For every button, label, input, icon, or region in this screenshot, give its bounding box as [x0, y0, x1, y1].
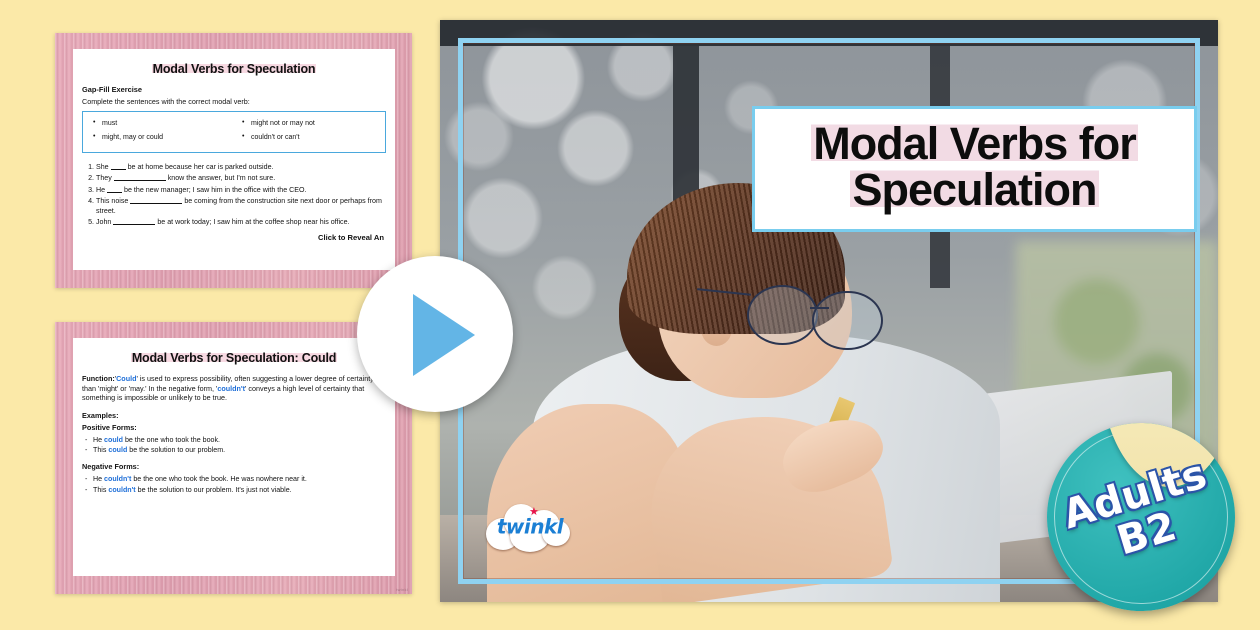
question-before: He	[96, 186, 105, 194]
answer-blank	[113, 224, 155, 225]
answer-blank	[114, 180, 166, 181]
gap-fill-question: She be at home because her car is parked…	[96, 162, 386, 172]
example-after: be the one who took the book. He was now…	[131, 475, 306, 483]
answer-blank	[111, 169, 126, 170]
twinkl-logo: ★ twinkl	[484, 500, 576, 554]
video-title-line-1: Modal Verbs for	[769, 121, 1180, 167]
example-before: He	[93, 436, 104, 444]
word-bank-item: couldn't or can't	[242, 134, 383, 142]
question-after: be at work today; I saw him at the coffe…	[157, 218, 349, 226]
badge-text: Adults B2	[1047, 448, 1235, 581]
example-before: This	[93, 486, 108, 494]
twinkl-watermark: twinkl	[396, 587, 408, 592]
slide-1-title-text: Modal Verbs for Speculation	[152, 62, 317, 76]
gap-fill-question: This noise be coming from the constructi…	[96, 196, 386, 216]
slide-thumbnail-1[interactable]: Modal Verbs for Speculation Gap-Fill Exe…	[55, 33, 412, 288]
example-keyword: could	[104, 436, 123, 444]
question-after: be coming from the construction site nex…	[96, 197, 382, 215]
screenshot-canvas: Modal Verbs for Speculation Gap-Fill Exe…	[0, 0, 1260, 630]
function-keyword-could: Could	[116, 374, 136, 383]
word-bank-column-left: must might, may or could	[85, 117, 234, 147]
answer-blank	[130, 203, 182, 204]
slide-2-title-text: Modal Verbs for Speculation: Could	[131, 351, 337, 365]
positive-examples-list: He could be the one who took the book. T…	[82, 435, 386, 456]
negative-forms-label: Negative Forms:	[82, 462, 386, 471]
example-after: be the one who took the book.	[123, 436, 220, 444]
example-keyword: couldn't	[104, 475, 131, 483]
slide-2-body: Function:'Could' is used to express poss…	[73, 374, 395, 495]
gap-fill-question: They know the answer, but I'm not sure.	[96, 173, 386, 183]
examples-label: Examples:	[82, 411, 386, 420]
question-before: This noise	[96, 197, 128, 205]
example-after: be the solution to our problem.	[127, 446, 225, 454]
function-keyword-couldnt: couldn't	[217, 384, 245, 393]
word-bank-item: must	[93, 120, 234, 128]
example-keyword: couldn't	[108, 486, 135, 494]
negative-examples-list: He couldn't be the one who took the book…	[82, 474, 386, 495]
slide-1-body: Gap-Fill Exercise Complete the sentences…	[73, 85, 395, 242]
word-bank-column-right: might not or may not couldn't or can't	[234, 117, 383, 147]
play-triangle-icon	[413, 294, 475, 376]
example-keyword: could	[108, 446, 127, 454]
question-after: know the answer, but I'm not sure.	[168, 174, 275, 182]
slide-2-title: Modal Verbs for Speculation: Could	[79, 351, 389, 365]
question-before: She	[96, 163, 109, 171]
word-bank-box: must might, may or could might not or ma…	[82, 111, 386, 153]
example-before: This	[93, 446, 108, 454]
video-title-line-2: Speculation	[769, 167, 1180, 213]
question-before: They	[96, 174, 112, 182]
function-label: Function:	[82, 374, 115, 383]
function-paragraph: Function:'Could' is used to express poss…	[82, 374, 386, 403]
video-title-line-1-text: Modal Verbs for	[811, 118, 1138, 169]
question-after: be the new manager; I saw him in the off…	[124, 186, 306, 194]
twinkl-wordmark: twinkl	[484, 515, 576, 539]
slide-thumbnail-2[interactable]: Modal Verbs for Speculation: Could Funct…	[55, 322, 412, 594]
gap-fill-question: John be at work today; I saw him at the …	[96, 217, 386, 227]
example-before: He	[93, 475, 104, 483]
slide-1-page: Modal Verbs for Speculation Gap-Fill Exe…	[73, 49, 395, 270]
slide-1-instruction: Complete the sentences with the correct …	[82, 97, 386, 106]
slide-2-page: Modal Verbs for Speculation: Could Funct…	[73, 338, 395, 576]
example-after: be the solution to our problem. It's jus…	[136, 486, 292, 494]
click-to-reveal-button[interactable]: Click to Reveal An	[82, 233, 386, 242]
example-item: This could be the solution to our proble…	[93, 445, 386, 456]
answer-blank	[107, 192, 122, 193]
example-item: He could be the one who took the book.	[93, 435, 386, 446]
video-title-line-2-text: Speculation	[850, 164, 1098, 215]
example-item: He couldn't be the one who took the book…	[93, 474, 386, 485]
gap-fill-question: He be the new manager; I saw him in the …	[96, 185, 386, 195]
word-bank-item: might not or may not	[242, 120, 383, 128]
gap-fill-question-list: She be at home because her car is parked…	[82, 162, 386, 226]
video-title-card: Modal Verbs for Speculation	[752, 106, 1197, 232]
word-bank-item: might, may or could	[93, 134, 234, 142]
slide-1-heading: Gap-Fill Exercise	[82, 85, 386, 94]
play-button[interactable]	[357, 256, 513, 412]
question-before: John	[96, 218, 111, 226]
question-after: be at home because her car is parked out…	[128, 163, 274, 171]
level-badge: Adults B2	[1047, 423, 1235, 611]
slide-1-title: Modal Verbs for Speculation	[79, 62, 389, 76]
positive-forms-label: Positive Forms:	[82, 423, 386, 432]
example-item: This couldn't be the solution to our pro…	[93, 485, 386, 496]
